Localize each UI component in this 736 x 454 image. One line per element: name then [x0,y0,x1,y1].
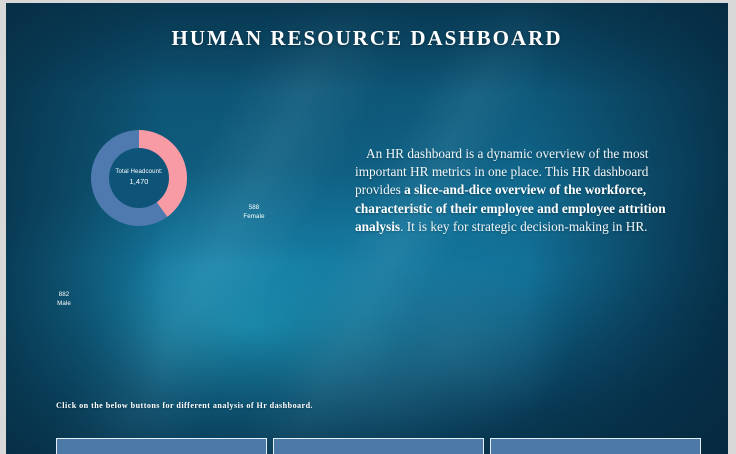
slice-label-male: 882 Male [38,290,90,309]
hr-dashboard-slide: HUMAN RESOURCE DASHBOARD Total Headcount… [6,3,728,454]
nav-button-1[interactable] [56,438,267,454]
headcount-donut-chart: Total Headcount: 1,470 588 Female 882 Ma… [30,81,320,286]
navigation-hint: Click on the below buttons for different… [56,401,313,410]
donut-chart-graphic: Total Headcount: 1,470 [91,130,187,226]
page-title: HUMAN RESOURCE DASHBOARD [6,26,728,51]
slice-label-male-name: Male [57,300,71,307]
donut-hole [109,148,169,208]
slice-label-female-name: Female [243,213,264,220]
slice-label-female-value: 588 [249,204,260,211]
description-tail: . It is key for strategic decision-makin… [400,219,647,234]
donut-svg [91,130,187,226]
slice-label-male-value: 882 [59,291,70,298]
dashboard-description: An HR dashboard is a dynamic overview of… [355,145,685,236]
slice-label-female: 588 Female [228,203,280,222]
nav-button-2[interactable] [273,438,484,454]
nav-button-3[interactable] [490,438,701,454]
